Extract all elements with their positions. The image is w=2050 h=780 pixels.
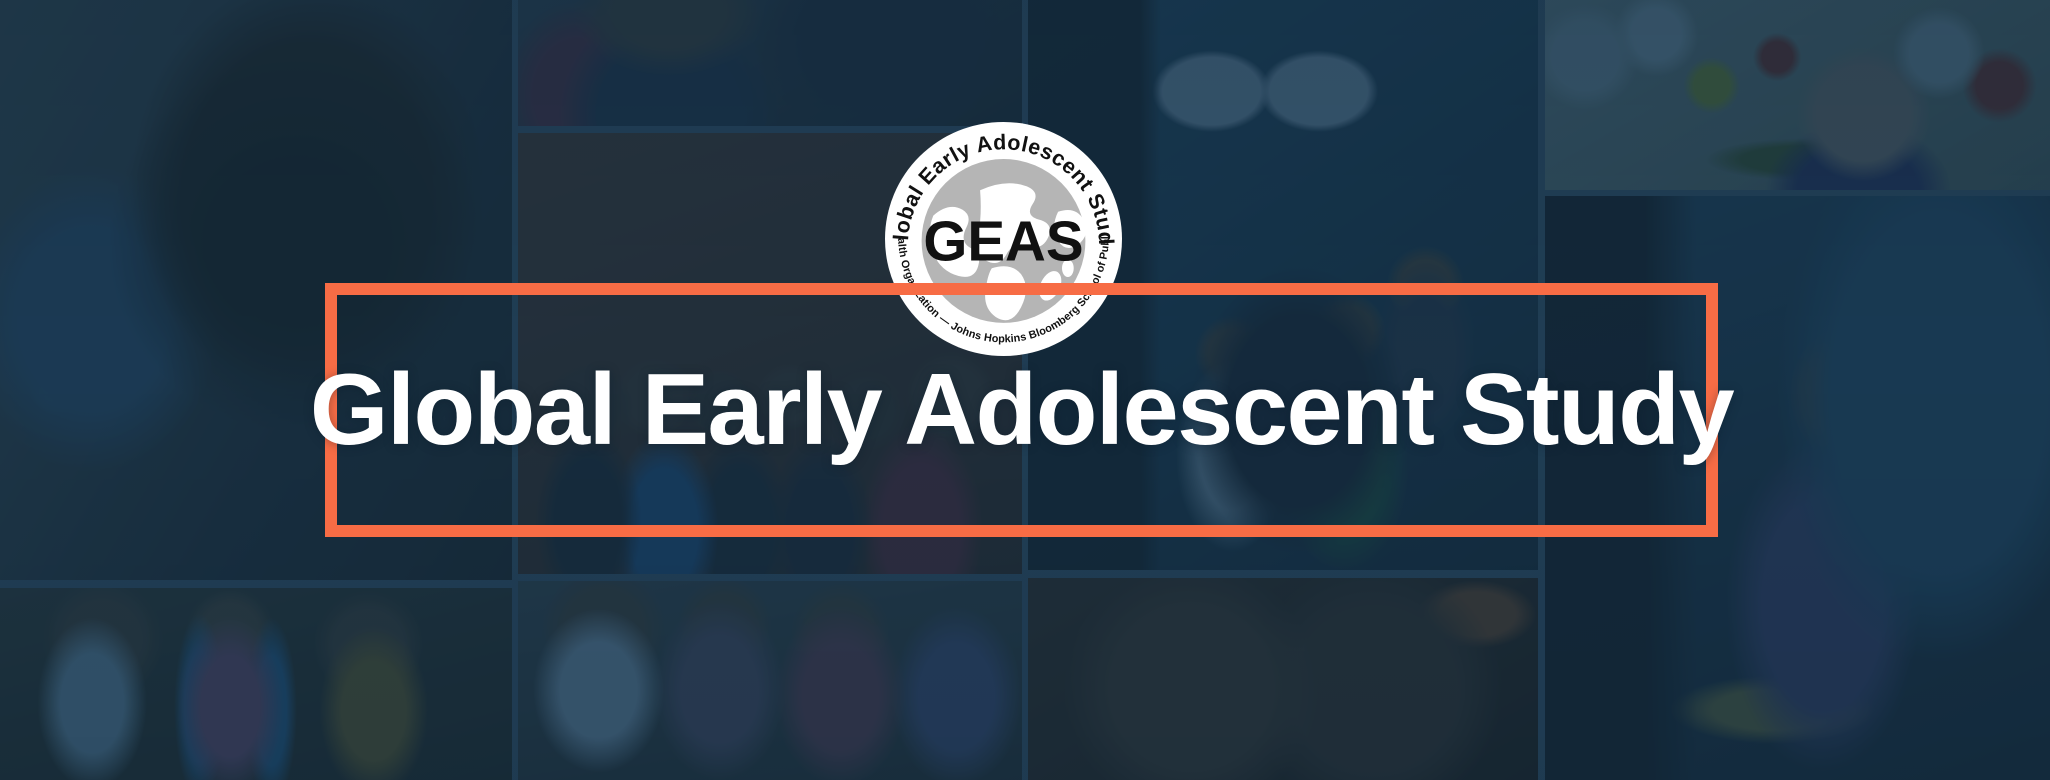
geas-banner: Global Early Adolescent Study World Heal… xyxy=(0,0,2050,780)
logo-center-text: GEAS xyxy=(923,209,1083,272)
page-title: Global Early Adolescent Study xyxy=(325,283,1718,537)
